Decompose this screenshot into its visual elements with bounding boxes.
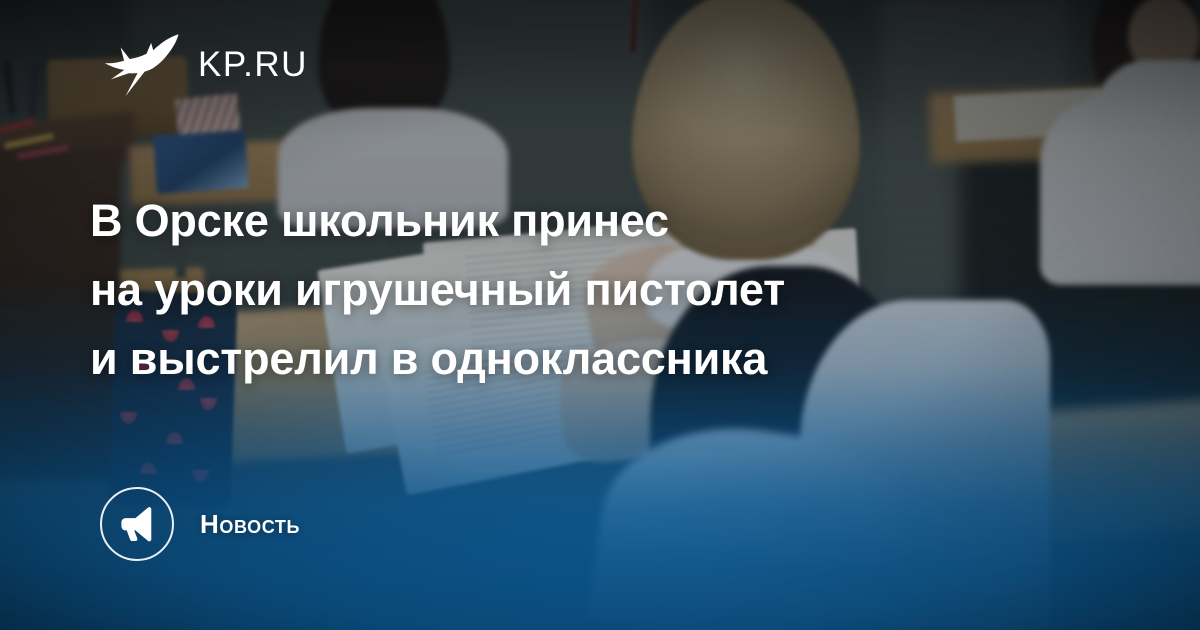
badge-label: Новость [200,511,300,537]
headline-line-2: на уроки игрушечный пистолет [90,255,1110,324]
brand-logo[interactable]: KP.RU [104,28,308,100]
headline: В Орске школьник принес на уроки игрушеч… [90,186,1110,393]
social-share-card: KP.RU В Орске школьник принес на уроки и… [0,0,1200,630]
content-type-badge[interactable]: Новость [100,487,300,561]
headline-line-3: и выстрелил в одноклассника [90,324,1110,393]
brand-wordmark: KP.RU [198,47,308,82]
swallow-bird-icon [104,31,180,97]
megaphone-icon [100,487,174,561]
card-content: KP.RU В Орске школьник принес на уроки и… [0,0,1200,630]
headline-line-1: В Орске школьник принес [90,186,1110,255]
